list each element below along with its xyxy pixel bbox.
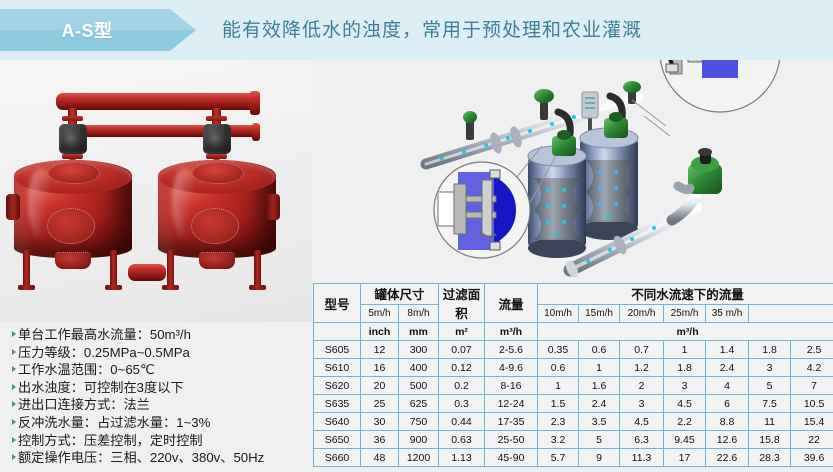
tank-left-leg-2 [110, 250, 117, 286]
tank-right-bottom-nozzle [199, 252, 235, 269]
model-cell: S650 [314, 431, 361, 449]
velocity-flow-cell-3: 2.2 [664, 413, 706, 431]
th-unit-mm: mm [399, 323, 439, 341]
model-cell: S635 [314, 395, 361, 413]
spec-text: 单台工作最高水流量：50m³/h [18, 326, 191, 344]
air-release-valve-mid [534, 89, 554, 120]
mm-cell: 300 [399, 341, 439, 359]
velocity-flow-cell-0: 0.6 [538, 359, 579, 377]
tank-left-top-hatch [48, 162, 100, 184]
product-photo [0, 60, 312, 322]
bullet-triangle-icon [12, 366, 16, 372]
bullet-triangle-icon [12, 454, 16, 460]
th-speed-5: 5m/h [361, 304, 399, 322]
flow-cell: 12-24 [485, 395, 538, 413]
velocity-flow-cell-5: 15.8 [749, 431, 791, 449]
velocity-flow-cell-4: 12.6 [706, 431, 749, 449]
lower-manifold-cap [252, 123, 260, 141]
velocity-flow-cell-0: 0.35 [538, 341, 579, 359]
velocity-flow-cell-1: 1.6 [579, 377, 620, 395]
velocity-flow-cell-2: 11.3 [620, 449, 664, 467]
area-cell: 0.44 [439, 413, 485, 431]
header-subtitle: 能有效降低水的浊度，常用于预处理和农业灌溉 [222, 15, 642, 42]
inch-cell: 20 [361, 377, 399, 395]
area-cell: 0.12 [439, 359, 485, 377]
velocity-flow-cell-4: 1.4 [706, 341, 749, 359]
th-model: 型号 [314, 284, 361, 323]
flow-cell: 2-5.6 [485, 341, 538, 359]
velocity-flow-cell-1: 2.4 [579, 395, 620, 413]
table-row: S635256250.312-241.52.434.567.510.5 [314, 395, 833, 413]
velocity-flow-cell-5: 5 [749, 377, 791, 395]
th-speed-35: 35 m/h [706, 304, 749, 322]
model-cell: S605 [314, 341, 361, 359]
mm-cell: 1200 [399, 449, 439, 467]
tank-left-manhole [47, 208, 95, 244]
top-manifold-pipe [56, 93, 258, 110]
flow-cell: 4-9.6 [485, 359, 538, 377]
filter-vessel-front [528, 146, 586, 258]
tank-right-leg-1 [167, 250, 174, 286]
velocity-flow-cell-6: 7 [791, 377, 833, 395]
model-banner-arrow: A-S型 [0, 9, 196, 51]
velocity-flow-cell-5: 7.5 [749, 395, 791, 413]
left-control-valve [59, 124, 87, 154]
velocity-flow-cell-2: 6.3 [620, 431, 664, 449]
top-manifold-cap [250, 91, 260, 115]
model-cell: S610 [314, 359, 361, 377]
th-speed-20: 20m/h [620, 304, 664, 322]
velocity-flow-cell-4: 22.6 [706, 449, 749, 467]
velocity-flow-cell-3: 9.45 [664, 431, 706, 449]
area-cell: 0.3 [439, 395, 485, 413]
table-header-row-3: inch mm m² m³/h m³/h [314, 323, 833, 341]
right-control-valve [203, 124, 231, 154]
th-unit-blank [314, 323, 361, 341]
tank-left-leg-1 [23, 250, 30, 286]
velocity-flow-cell-0: 1 [538, 377, 579, 395]
flow-cell: 45-90 [485, 449, 538, 467]
mm-cell: 900 [399, 431, 439, 449]
spec-text: 进出口连接方式：法兰 [18, 396, 150, 414]
spec-text: 反冲洗水量：占过滤水量：1~3% [18, 414, 210, 432]
tank-right-top-hatch [192, 162, 244, 184]
table-row: S650369000.6325-503.256.39.4512.615.822 [314, 431, 833, 449]
th-speed-8: 8m/h [399, 304, 439, 322]
th-tank-size: 罐体尺寸 [361, 284, 439, 305]
table-row: S605123000.072-5.60.350.60.711.41.82.5 [314, 341, 833, 359]
banner-title: A-S型 [62, 17, 113, 43]
velocity-flow-cell-6: 15.4 [791, 413, 833, 431]
bullet-triangle-icon [12, 419, 16, 425]
right-riser-flange-top [206, 116, 227, 121]
velocity-flow-cell-3: 17 [664, 449, 706, 467]
left-riser-flange-bottom [62, 154, 83, 159]
th-unit-inch: inch [361, 323, 399, 341]
filter-vessel-rear [580, 128, 638, 240]
mm-cell: 750 [399, 413, 439, 431]
specification-table: 型号 罐体尺寸 过滤面积 流量 不同水流速下的流量 5m/h 8m/h 10m/… [313, 283, 833, 467]
spec-text: 出水浊度：可控制在3度以下 [18, 379, 184, 397]
velocity-flow-cell-3: 3 [664, 377, 706, 395]
velocity-flow-cell-0: 1.5 [538, 395, 579, 413]
velocity-flow-cell-5: 1.8 [749, 341, 791, 359]
th-speed-10: 10m/h [538, 304, 579, 322]
area-cell: 0.07 [439, 341, 485, 359]
bullet-triangle-icon [12, 401, 16, 407]
velocity-flow-cell-6: 22 [791, 431, 833, 449]
velocity-flow-cell-5: 11 [749, 413, 791, 431]
inch-cell: 48 [361, 449, 399, 467]
valve-cutaway-callout-right [632, 60, 780, 136]
left-riser-flange-top [62, 116, 83, 121]
velocity-flow-cell-5: 28.3 [749, 449, 791, 467]
list-item: 控制方式：压差控制，定时控制 [8, 432, 308, 450]
inter-tank-pipe [128, 264, 166, 281]
velocity-flow-cell-0: 5.7 [538, 449, 579, 467]
air-release-valve-left [463, 111, 477, 140]
bullet-triangle-icon [12, 349, 16, 355]
mm-cell: 625 [399, 395, 439, 413]
area-cell: 0.2 [439, 377, 485, 395]
velocity-flow-cell-2: 3 [620, 395, 664, 413]
velocity-flow-cell-6: 10.5 [791, 395, 833, 413]
list-item: 反冲洗水量：占过滤水量：1~3% [8, 414, 308, 432]
velocity-flow-cell-6: 2.5 [791, 341, 833, 359]
table-header-row-2: 5m/h 8m/h 10m/h 15m/h 20m/h 25m/h 35 m/h [314, 304, 833, 322]
tank-left-side-nozzle [6, 194, 20, 220]
velocity-flow-cell-5: 3 [749, 359, 791, 377]
list-item: 单台工作最高水流量：50m³/h [8, 326, 308, 344]
inch-cell: 12 [361, 341, 399, 359]
right-riser-flange-bottom [206, 154, 227, 159]
velocity-flow-cell-3: 1.8 [664, 359, 706, 377]
th-speed-25: 25m/h [664, 304, 706, 322]
velocity-flow-cell-1: 9 [579, 449, 620, 467]
velocity-flow-cell-4: 4 [706, 377, 749, 395]
inch-cell: 30 [361, 413, 399, 431]
specification-list: 单台工作最高水流量：50m³/h 压力等级：0.25MPa~0.5MPa 工作水… [8, 326, 308, 467]
velocity-flow-cell-2: 1.2 [620, 359, 664, 377]
inch-cell: 36 [361, 431, 399, 449]
model-cell: S660 [314, 449, 361, 467]
table-row: S640307500.4417-352.33.54.52.28.81115.4 [314, 413, 833, 431]
velocity-flow-cell-1: 3.5 [579, 413, 620, 431]
velocity-flow-cell-2: 0.7 [620, 341, 664, 359]
spec-text: 额定操作电压：三相、220v、380v、50Hz [18, 449, 264, 467]
velocity-flow-cell-0: 2.3 [538, 413, 579, 431]
system-diagram [420, 60, 833, 282]
model-cell: S620 [314, 377, 361, 395]
tank-left-bottom-nozzle [55, 252, 91, 269]
velocity-flow-cell-6: 4.2 [791, 359, 833, 377]
header-band: A-S型 能有效降低水的浊度，常用于预处理和农业灌溉 [0, 0, 833, 60]
velocity-flow-cell-1: 0.6 [579, 341, 620, 359]
velocity-flow-cell-1: 5 [579, 431, 620, 449]
table-header-row-1: 型号 罐体尺寸 过滤面积 流量 不同水流速下的流量 [314, 284, 833, 305]
bullet-triangle-icon [12, 384, 16, 390]
model-cell: S640 [314, 413, 361, 431]
area-cell: 1.13 [439, 449, 485, 467]
flow-cell: 8-16 [485, 377, 538, 395]
tank-right-side-nozzle [266, 194, 280, 220]
velocity-flow-cell-4: 2.4 [706, 359, 749, 377]
th-flow-by-velocity: 不同水流速下的流量 [538, 284, 833, 305]
table-row: S610164000.124-9.60.611.21.82.434.2 [314, 359, 833, 377]
flow-cell: 17-35 [485, 413, 538, 431]
list-item: 进出口连接方式：法兰 [8, 396, 308, 414]
spec-text: 控制方式：压差控制，定时控制 [18, 432, 203, 450]
inch-cell: 16 [361, 359, 399, 377]
velocity-flow-cell-2: 2 [620, 377, 664, 395]
th-unit-speed: m³/h [538, 323, 833, 341]
th-flow: 流量 [485, 284, 538, 323]
velocity-flow-cell-2: 4.5 [620, 413, 664, 431]
velocity-flow-cell-6: 39.6 [791, 449, 833, 467]
main-control-valve-right [678, 148, 722, 194]
spec-table-container: 型号 罐体尺寸 过滤面积 流量 不同水流速下的流量 5m/h 8m/h 10m/… [313, 283, 822, 467]
velocity-flow-cell-3: 1 [664, 341, 706, 359]
list-item: 出水浊度：可控制在3度以下 [8, 379, 308, 397]
inch-cell: 25 [361, 395, 399, 413]
area-cell: 0.63 [439, 431, 485, 449]
velocity-flow-cell-3: 4.5 [664, 395, 706, 413]
flow-cell: 25-50 [485, 431, 538, 449]
bullet-triangle-icon [12, 437, 16, 443]
tank-right-manhole [191, 208, 239, 244]
th-unit-m2: m² [439, 323, 485, 341]
table-row: S620205000.28-1611.623457 [314, 377, 833, 395]
list-item: 额定操作电压：三相、220v、380v、50Hz [8, 449, 308, 467]
th-speed-15: 15m/h [579, 304, 620, 322]
bullet-triangle-icon [12, 331, 16, 337]
velocity-flow-cell-4: 8.8 [706, 413, 749, 431]
spec-text: 工作水温范围：0~65℃ [18, 361, 155, 379]
list-item: 工作水温范围：0~65℃ [8, 361, 308, 379]
velocity-flow-cell-1: 1 [579, 359, 620, 377]
mm-cell: 500 [399, 377, 439, 395]
tank-right-leg-2 [254, 250, 261, 286]
velocity-flow-cell-4: 6 [706, 395, 749, 413]
mm-cell: 400 [399, 359, 439, 377]
velocity-flow-cell-0: 3.2 [538, 431, 579, 449]
spec-text: 压力等级：0.25MPa~0.5MPa [18, 344, 190, 362]
list-item: 压力等级：0.25MPa~0.5MPa [8, 344, 308, 362]
table-row: S6604812001.1345-905.7911.31722.628.339.… [314, 449, 833, 467]
th-filter-area: 过滤面积 [439, 284, 485, 323]
th-unit-m3h: m³/h [485, 323, 538, 341]
table-body: S605123000.072-5.60.350.60.711.41.82.5S6… [314, 341, 833, 467]
